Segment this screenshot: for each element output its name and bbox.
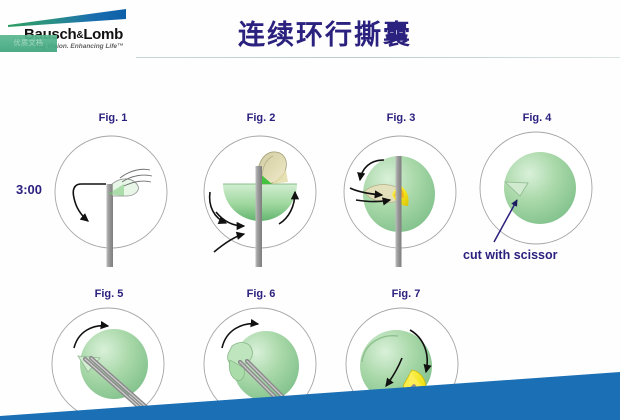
figure-fig3: Fig. 3: [336, 112, 466, 272]
figure-label-fig1: Fig. 1: [48, 112, 178, 124]
figure-illustration-fig1: [48, 126, 178, 272]
scissor-annotation: cut with scissor: [463, 248, 557, 262]
figure-label-fig6: Fig. 6: [196, 288, 326, 300]
page-title: 连续环行撕囊: [238, 13, 412, 52]
watermark-text: 优质文档: [0, 35, 57, 48]
figure-label-fig7: Fig. 7: [336, 288, 476, 300]
bottom-banner: [0, 348, 620, 420]
slide-canvas: Bausch&Lomb ing Vision. Enhancing Life™ …: [0, 0, 620, 420]
figure-fig2: Fig. 2: [196, 112, 326, 272]
figure-illustration-fig3: [336, 126, 466, 272]
logo-brand-second: Lomb: [83, 26, 123, 43]
figure-illustration-fig2: [196, 126, 326, 272]
clock-position-label: 3:00: [16, 182, 42, 197]
watermark-badge: 优质文档: [0, 35, 57, 52]
figure-label-fig2: Fig. 2: [196, 112, 326, 124]
figure-label-fig3: Fig. 3: [336, 112, 466, 124]
title-divider: [136, 57, 620, 58]
figure-fig1: Fig. 1: [48, 112, 178, 272]
logo-swoosh-icon: [6, 8, 128, 28]
figure-label-fig4: Fig. 4: [472, 112, 602, 124]
figure-label-fig5: Fig. 5: [44, 288, 174, 300]
